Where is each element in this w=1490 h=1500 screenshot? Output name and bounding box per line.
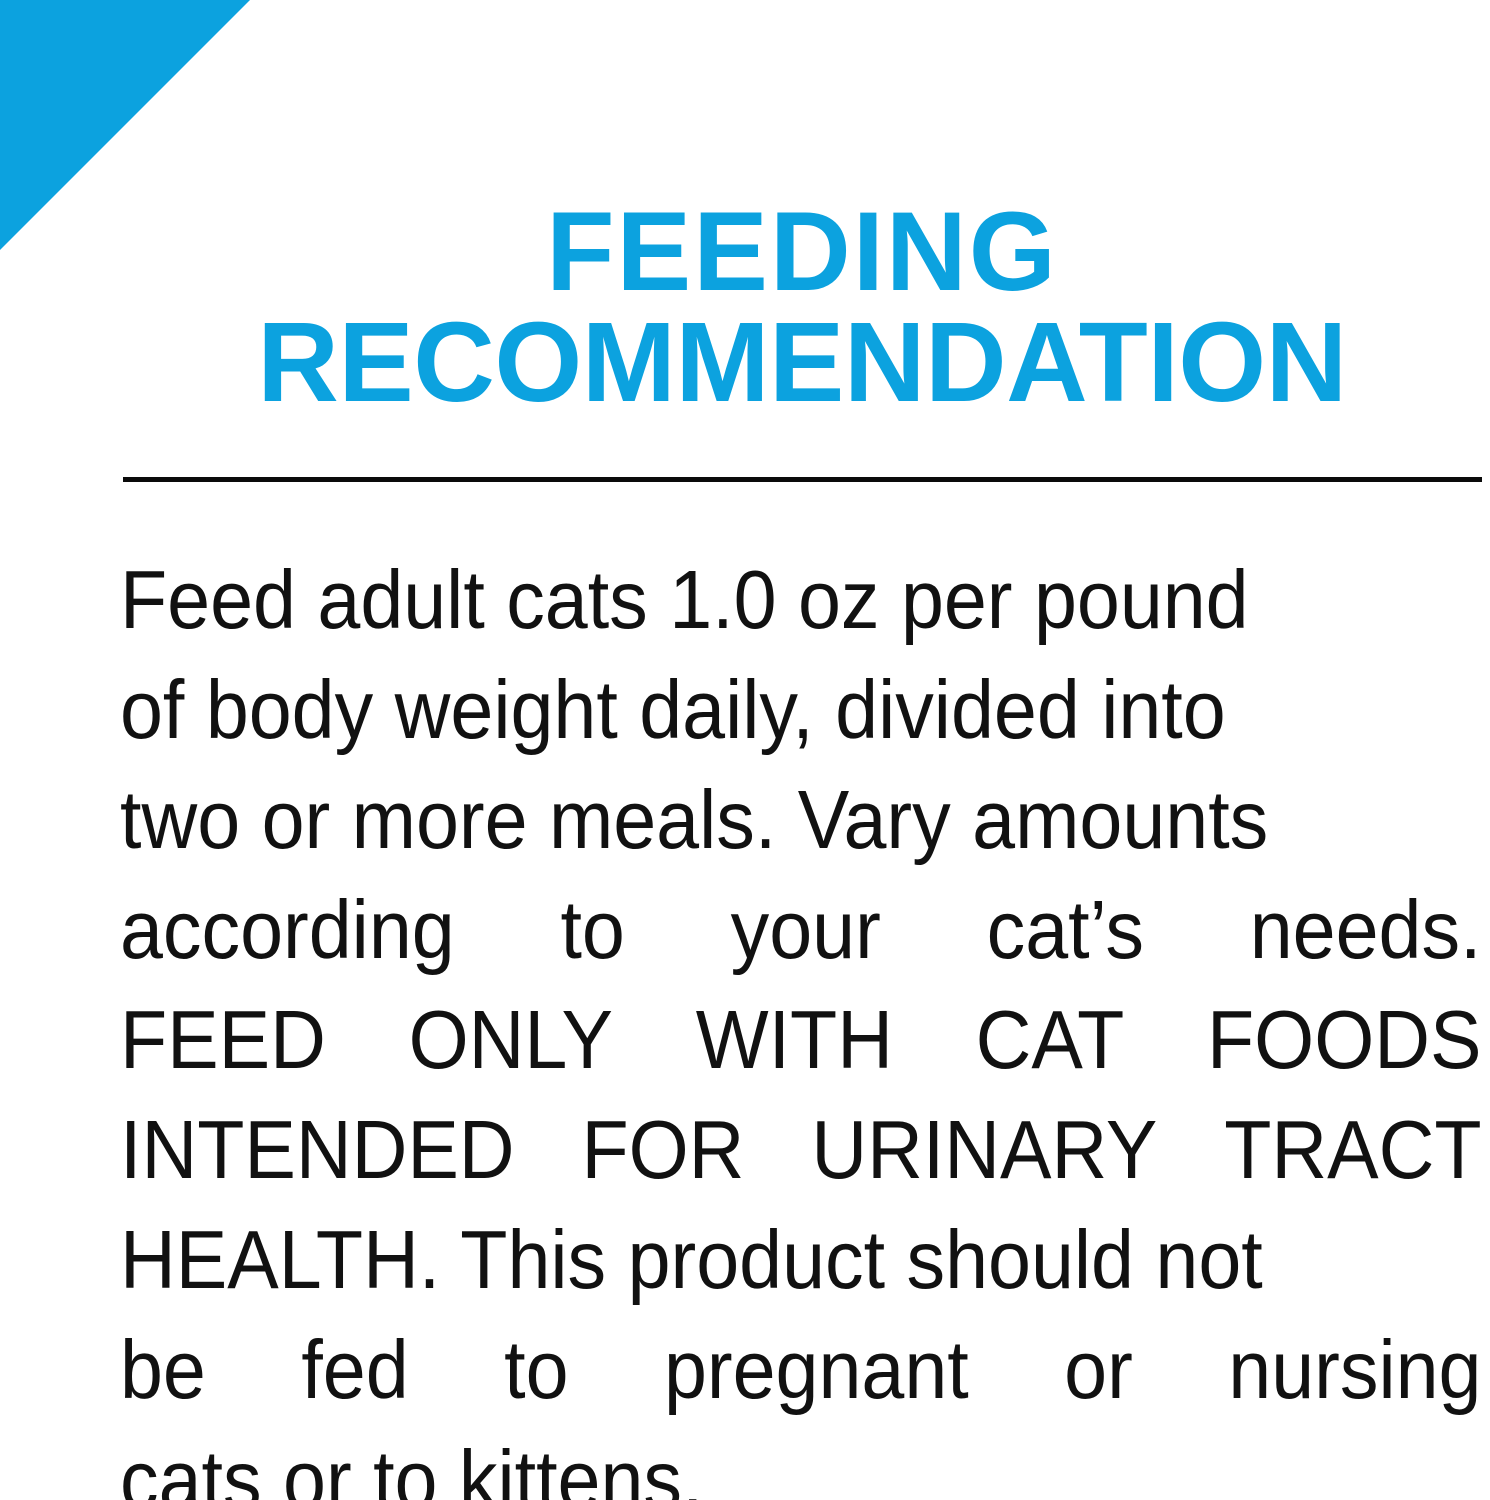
body-text-word: of body weight daily, divided into	[120, 663, 1226, 756]
body-text-line: Feed adult cats 1.0 oz per pound	[120, 545, 1387, 655]
body-text-line: cats or to kittens.	[120, 1425, 1387, 1500]
body-text-word: HEALTH. This product should not	[120, 1213, 1263, 1306]
body-text-word: CAT	[976, 985, 1125, 1095]
body-text-word: needs.	[1250, 875, 1482, 985]
body-text-word: pregnant	[664, 1315, 969, 1425]
page-title-line-1: FEEDING	[120, 197, 1484, 307]
page-title: FEEDING RECOMMENDATION	[120, 197, 1484, 417]
feeding-recommendation-panel: FEEDING RECOMMENDATION Feed adult cats 1…	[0, 0, 1490, 1500]
body-text-word: FOR	[581, 1095, 744, 1205]
body-text-word: FEED	[120, 985, 326, 1095]
body-text-word: to	[560, 875, 624, 985]
body-text-word: cat’s	[987, 875, 1144, 985]
body-text-word: URINARY	[811, 1095, 1157, 1205]
body-text-line: of body weight daily, divided into	[120, 655, 1387, 765]
body-text-line: befedtopregnantornursing	[120, 1315, 1482, 1425]
body-text-word: be	[120, 1315, 206, 1425]
page-title-line-2: RECOMMENDATION	[120, 307, 1484, 418]
body-text-line: HEALTH. This product should not	[120, 1205, 1387, 1315]
body-text-word: your	[731, 875, 881, 985]
body-text-word: WITH	[696, 985, 893, 1095]
horizontal-rule	[123, 477, 1482, 482]
feeding-instructions-text: Feed adult cats 1.0 oz per poundof body …	[120, 545, 1482, 1500]
body-text-word: cats or to kittens.	[120, 1433, 703, 1500]
body-text-line: accordingtoyourcat’sneeds.	[120, 875, 1482, 985]
body-text-line: two or more meals. Vary amounts	[120, 765, 1387, 875]
body-text-word: fed	[301, 1315, 408, 1425]
body-text-word: ONLY	[409, 985, 613, 1095]
body-text-line: INTENDEDFORURINARYTRACT	[120, 1095, 1482, 1205]
body-text-word: two or more meals. Vary amounts	[120, 773, 1268, 866]
body-text-word: according	[120, 875, 455, 985]
body-text-word: or	[1064, 1315, 1133, 1425]
body-text-word: nursing	[1228, 1315, 1481, 1425]
body-text-word: FOODS	[1207, 985, 1481, 1095]
body-text-word: INTENDED	[120, 1095, 515, 1205]
body-text-word: to	[504, 1315, 568, 1425]
body-text-word: TRACT	[1224, 1095, 1481, 1205]
body-text-line: FEEDONLYWITHCATFOODS	[120, 985, 1482, 1095]
body-text-word: Feed adult cats 1.0 oz per pound	[120, 553, 1249, 646]
